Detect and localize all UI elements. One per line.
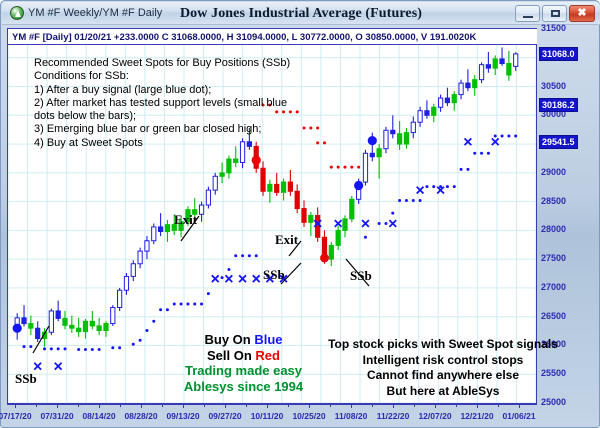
x-axis-tick-mark	[141, 404, 142, 408]
y-axis-tick: 27000	[541, 282, 566, 292]
promo-right-line-2: Intelligent risk control stops	[327, 353, 559, 369]
x-axis-tick-mark	[225, 404, 226, 408]
x-axis-tick: 01/06/21	[502, 411, 535, 421]
y-axis-tick: 31500	[541, 23, 566, 33]
close-icon: ✖	[570, 6, 594, 21]
promo-red-word: Red	[255, 348, 280, 363]
desc-heading: Recommended Sweet Spots for Buy Position…	[34, 57, 290, 70]
y-axis-tick: 28500	[541, 196, 566, 206]
maximize-button[interactable]	[542, 5, 567, 22]
sweet-spot-description: Recommended Sweet Spots for Buy Position…	[34, 57, 290, 150]
x-axis-tick-mark	[183, 404, 184, 408]
promo-sell-on: Sell On	[207, 348, 255, 363]
x-axis-tick: 10/25/20	[292, 411, 325, 421]
price-tag-stop-level: 29541.5	[539, 135, 578, 149]
promo-blue-word: Blue	[254, 332, 282, 347]
y-axis-tick: 30500	[541, 81, 566, 91]
chart-annotation-exit-3: Exit	[275, 232, 298, 248]
x-axis-tick-mark	[267, 404, 268, 408]
chart-annotation-exit-1: Exit	[174, 212, 197, 228]
y-axis-tick: 27500	[541, 253, 566, 263]
x-axis-minor-mark	[78, 404, 79, 407]
x-axis-minor-mark	[162, 404, 163, 407]
x-axis-tick: 09/27/20	[208, 411, 241, 421]
x-axis-minor-mark	[372, 404, 373, 407]
y-axis-tick: 29000	[541, 167, 566, 177]
window-titlebar: YM #F Weekly/YM #F Daily Dow Jones Indus…	[2, 2, 600, 25]
desc-line-4: 3) Emerging blue bar or green bar closed…	[34, 123, 290, 136]
price-tag-stop-level: 30186.2	[539, 98, 578, 112]
x-axis-tick-mark	[435, 404, 436, 408]
promo-brand: Ablesys since 1994	[161, 379, 326, 395]
maximize-icon	[551, 10, 560, 17]
x-axis-tick-mark	[309, 404, 310, 408]
date-axis-line	[7, 404, 537, 405]
x-axis-tick: 07/31/20	[40, 411, 73, 421]
y-axis-tick: 28000	[541, 224, 566, 234]
promo-left-block: Buy On Blue Sell On Red Trading made eas…	[161, 332, 326, 394]
promo-buy-on: Buy On	[204, 332, 254, 347]
x-axis-tick: 10/11/20	[251, 411, 284, 421]
close-button[interactable]: ✖	[569, 5, 595, 22]
minimize-button[interactable]	[515, 5, 540, 22]
desc-line-2: 2) After market has tested support level…	[34, 97, 290, 110]
x-axis-tick: 08/14/20	[82, 411, 115, 421]
x-axis-tick-mark	[477, 404, 478, 408]
x-axis-minor-mark	[414, 404, 415, 407]
x-axis-minor-mark	[246, 404, 247, 407]
chart-annotation-ssb-0: SSb	[15, 371, 37, 387]
chart-annotation-ssb-4: SSb	[350, 268, 372, 284]
promo-sell-line: Sell On Red	[161, 348, 326, 364]
x-axis-tick-mark	[519, 404, 520, 408]
x-axis-minor-mark	[120, 404, 121, 407]
x-axis-minor-mark	[204, 404, 205, 407]
x-axis-tick-mark	[57, 404, 58, 408]
x-axis-minor-mark	[36, 404, 37, 407]
x-axis-tick-mark	[351, 404, 352, 408]
x-axis-minor-mark	[288, 404, 289, 407]
chart-annotation-ssb-2: SSb	[263, 267, 285, 283]
x-axis-tick-mark	[393, 404, 394, 408]
promo-tagline: Trading made easy	[161, 363, 326, 379]
promo-right-block: Top stock picks with Sweet Spot signals …	[327, 337, 559, 399]
x-axis-tick: 12/07/20	[418, 411, 451, 421]
date-axis: 07/17/2007/31/2008/14/2008/28/2009/13/20…	[7, 404, 537, 426]
desc-line-3: dots below the bars);	[34, 110, 290, 123]
window-title: Dow Jones Industrial Average (Futures)	[2, 6, 600, 22]
x-axis-tick: 11/22/20	[377, 411, 410, 421]
x-axis-minor-mark	[456, 404, 457, 407]
desc-line-5: 4) Buy at Sweet Spots	[34, 137, 290, 150]
x-axis-tick: 09/13/20	[166, 411, 199, 421]
promo-buy-line: Buy On Blue	[161, 332, 326, 348]
price-tag-last-price: 31068.0	[539, 47, 578, 61]
x-axis-minor-mark	[330, 404, 331, 407]
promo-right-line-3: Cannot find anywhere else	[327, 368, 559, 384]
x-axis-minor-mark	[498, 404, 499, 407]
x-axis-tick-mark	[99, 404, 100, 408]
desc-line-1: 1) After a buy signal (large blue dot);	[34, 84, 290, 97]
x-axis-tick-mark	[15, 404, 16, 408]
minimize-icon	[523, 16, 533, 18]
promo-right-line-1: Top stock picks with Sweet Spot signals	[327, 337, 559, 353]
x-axis-tick: 08/28/20	[124, 411, 157, 421]
quote-info-bar: YM #F [Daily] 01/20/21 +233.0000 C 31068…	[7, 28, 537, 45]
x-axis-tick: 11/08/20	[335, 411, 368, 421]
y-axis-tick: 26500	[541, 311, 566, 321]
promo-right-line-4: But here at AbleSys	[327, 384, 559, 400]
chart-window: YM #F Weekly/YM #F Daily Dow Jones Indus…	[0, 0, 600, 428]
desc-subheading: Conditions for SSb:	[34, 70, 290, 83]
x-axis-tick: 12/21/20	[460, 411, 493, 421]
x-axis-tick: 07/17/20	[0, 411, 32, 421]
